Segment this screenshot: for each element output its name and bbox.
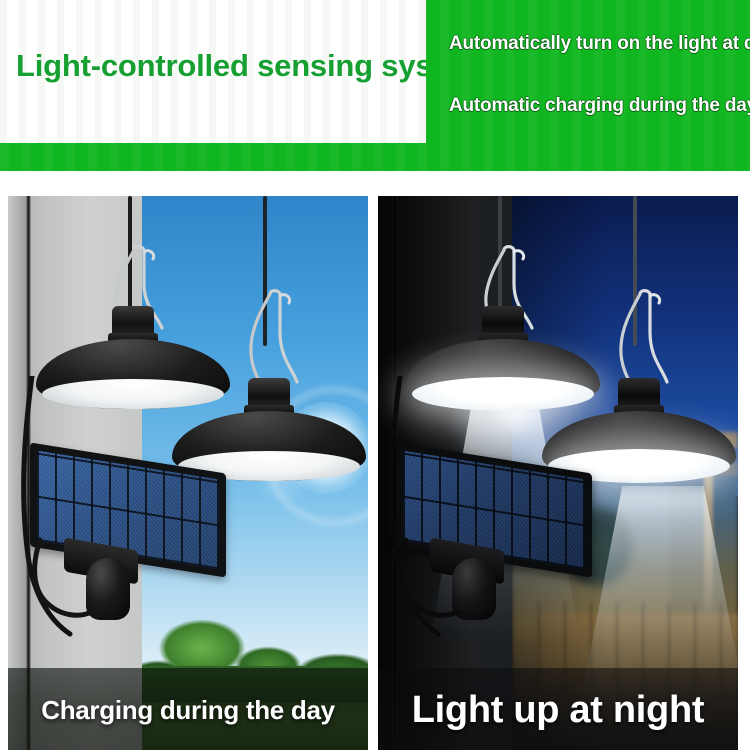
lamp-hook-icon xyxy=(240,288,310,392)
panel-night: Light up at night xyxy=(378,196,738,750)
lamp-cap xyxy=(618,378,660,408)
lamp-cap xyxy=(248,378,290,408)
panel-day: Charging during the day xyxy=(8,196,368,750)
header-bullet-1: Automatically turn on the light at dark xyxy=(449,33,750,55)
product-marketing-image: Light-controlled sensing system Automati… xyxy=(0,0,750,750)
night-caption: Light up at night xyxy=(378,689,738,732)
title-box: Light-controlled sensing system xyxy=(0,0,426,143)
header-banner: Light-controlled sensing system Automati… xyxy=(0,0,750,171)
solar-panel-night xyxy=(396,458,606,598)
page-title: Light-controlled sensing system xyxy=(16,48,426,84)
lamp-cap xyxy=(482,306,524,336)
lamp-hook-icon xyxy=(610,288,680,392)
solar-panel-cable xyxy=(30,536,150,646)
solar-panel-day xyxy=(30,458,240,598)
solar-panel-cable xyxy=(396,536,516,646)
day-caption: Charging during the day xyxy=(8,695,368,726)
lamp-cap xyxy=(112,306,154,336)
header-bullet-2: Automatic charging during the day xyxy=(449,95,750,117)
